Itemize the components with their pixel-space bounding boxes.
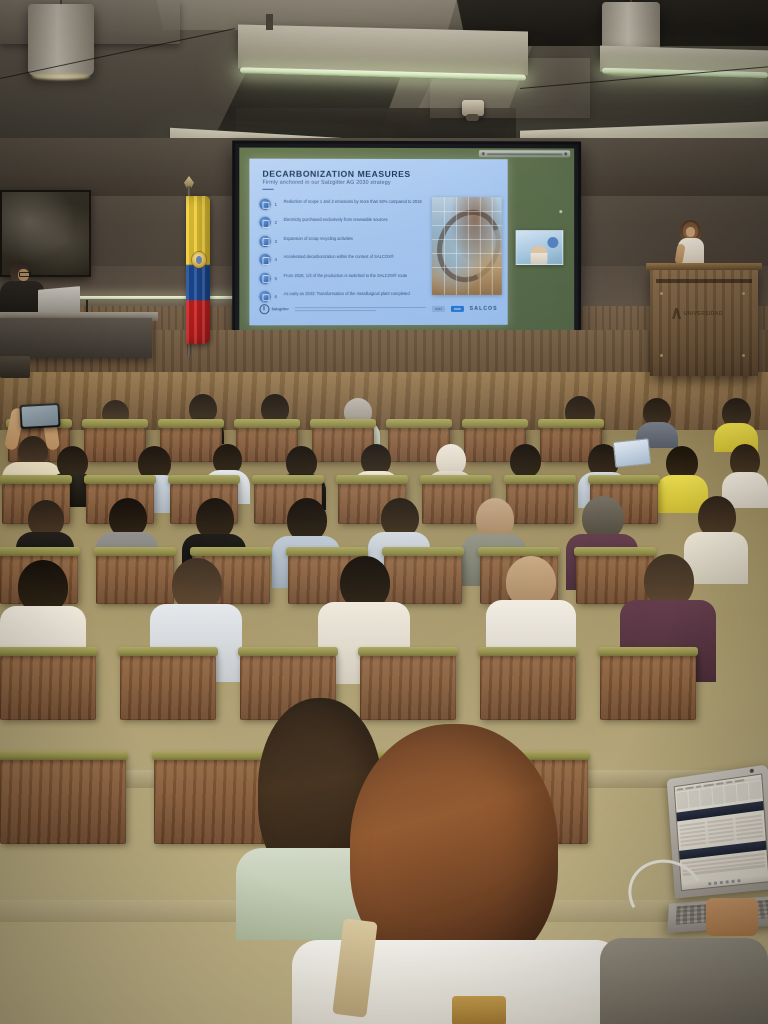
presentation-toolbar[interactable]	[479, 150, 570, 157]
university-mark-icon	[672, 308, 681, 319]
typing-hand	[706, 898, 758, 936]
timeline-chip: 2026	[451, 306, 464, 313]
podium: UNIVERSIDAD	[650, 268, 758, 376]
list-item: 4 Accelerated decarbonization within the…	[259, 254, 426, 265]
screen-indicator-dot	[559, 210, 562, 213]
slide-subtitle: Firmly anchored in our Salzgitter AG 203…	[262, 180, 390, 186]
toolbar-title	[487, 153, 562, 155]
seat[interactable]	[600, 654, 696, 720]
salcos-logo: SALCOS	[470, 306, 498, 312]
list-item: 5 From 2026, 1/3 of the production is sw…	[259, 273, 426, 284]
taskbar-icon[interactable]	[714, 881, 718, 885]
bullet-text: Accelerated decarbonization within the c…	[284, 254, 394, 260]
bullet-number: 2	[275, 217, 280, 225]
speaker-video-thumbnail[interactable]	[516, 230, 564, 265]
salzgitter-logo: Salzgitter	[259, 304, 288, 314]
presenter-face	[686, 227, 695, 237]
slide-bullet-list: 1 Reduction of scope 1 and 2 emissions b…	[259, 199, 426, 310]
confidence-monitor	[0, 356, 30, 378]
bullet-number: 5	[275, 273, 280, 281]
video-avatar-icon	[547, 237, 558, 248]
glasses-icon	[19, 272, 31, 277]
bullet-text: Reduction of scope 1 and 2 emissions by …	[284, 199, 422, 205]
toolbar-dot-icon	[482, 152, 485, 155]
screen-surface: DECARBONIZATION MEASURES Firmly anchored…	[239, 148, 574, 346]
seat[interactable]	[480, 654, 576, 720]
bag-buckle-icon	[452, 996, 506, 1024]
taskbar-icon[interactable]	[725, 880, 729, 884]
attendee-laptop-user-torso	[600, 938, 768, 1024]
flag-folds	[186, 196, 210, 344]
co2-reduction-icon	[259, 199, 270, 210]
taskbar-icon[interactable]	[708, 882, 712, 886]
podium-top	[646, 263, 762, 270]
slide-image	[432, 197, 502, 295]
laptop-webcam-icon	[750, 769, 754, 774]
bullet-number: 4	[275, 254, 280, 262]
bullet-text: From 2026, 1/3 of the production is swit…	[284, 273, 408, 279]
bullet-text: As early as 2033: Transformation of the …	[284, 291, 410, 297]
seat[interactable]	[0, 758, 126, 844]
toolbar-close-icon[interactable]	[564, 152, 567, 155]
coat-of-arms-icon	[192, 252, 206, 268]
ceiling	[0, 0, 768, 150]
ceiling-projector	[462, 100, 484, 116]
bullet-number: 1	[275, 199, 280, 207]
slide-title-rule	[262, 189, 273, 190]
podium-logo-text: UNIVERSIDAD	[684, 311, 723, 317]
slide-title: DECARBONIZATION MEASURES	[262, 169, 410, 179]
list-item: 2 Electricity purchased exclusively from…	[259, 217, 426, 228]
projection-screen[interactable]: DECARBONIZATION MEASURES Firmly anchored…	[232, 140, 581, 352]
acceleration-icon	[259, 254, 270, 265]
renewable-energy-icon	[259, 217, 270, 228]
seat[interactable]	[0, 654, 96, 720]
bullet-text: Expansion of scrap recycling activities	[284, 236, 353, 242]
taskbar-icon[interactable]	[720, 881, 724, 885]
bullet-number: 6	[275, 291, 280, 299]
tech-desk	[0, 318, 152, 358]
recycling-icon	[259, 236, 270, 247]
list-item: 1 Reduction of scope 1 and 2 emissions b…	[259, 199, 426, 210]
list-item: 3 Expansion of scrap recycling activitie…	[259, 236, 426, 247]
taskbar-icon[interactable]	[731, 879, 735, 883]
slide: DECARBONIZATION MEASURES Firmly anchored…	[249, 159, 507, 326]
attendee-tablet[interactable]	[613, 438, 652, 468]
taskbar-icon[interactable]	[737, 879, 741, 883]
podium-band	[656, 279, 752, 283]
smartphone-camera[interactable]	[19, 403, 60, 429]
attendee-front-center	[332, 724, 592, 1024]
phone-screen	[22, 405, 59, 427]
slide-footer: Salzgitter 2033 2026 SALCOS	[249, 299, 507, 319]
slide-timeline	[295, 307, 426, 312]
speaker-silhouette	[531, 246, 548, 264]
production-icon	[259, 273, 270, 284]
auditorium-photo: DECARBONIZATION MEASURES Firmly anchored…	[0, 0, 768, 1024]
salzgitter-mark-icon	[259, 304, 269, 314]
colombia-flag	[172, 186, 212, 356]
podium-university-logo: UNIVERSIDAD	[672, 308, 723, 319]
bullet-text: Electricity purchased exclusively from r…	[284, 217, 388, 223]
seat[interactable]	[120, 654, 216, 720]
company-logo-text: Salzgitter	[272, 307, 289, 311]
timeline-chip-secondary: 2033	[432, 306, 445, 313]
bullet-number: 3	[275, 236, 280, 244]
attendee-hair	[350, 724, 558, 974]
